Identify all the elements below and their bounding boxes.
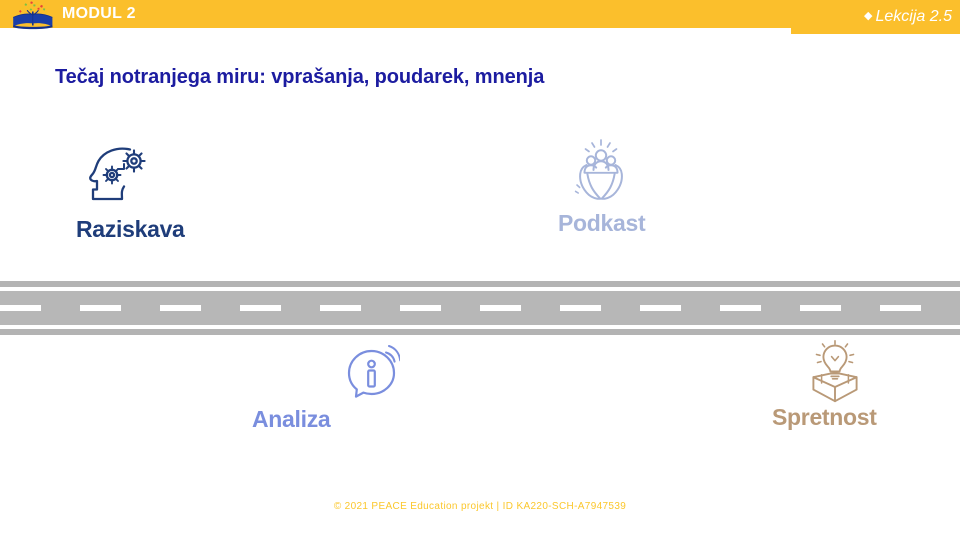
road-edge-bottom [0,329,960,335]
page-title: Tečaj notranjega miru: vprašanja, poudar… [55,66,544,89]
lesson-label-text: Lekcija 2.5 [876,8,953,25]
diamond-bullet-icon: ◆ [864,10,872,22]
peace-education-book-logo [10,1,56,30]
module-label: MODUL 2 [62,3,136,25]
journey-item-raziskava[interactable]: Raziskava [84,142,264,252]
info-speech-bubble-signal-icon [330,342,400,409]
journey-item-analiza[interactable]: Analiza [330,342,510,452]
road-divider-graphic [0,281,960,335]
journey-item-label-podkast: Podkast [558,210,738,237]
journey-item-label-spretnost: Spretnost [772,404,952,431]
head-with-gears-icon [84,142,158,209]
slide-canvas: MODUL 2 ◆Lekcija 2.5 Tečaj notranjega mi… [0,0,960,540]
hands-holding-people-icon [564,138,638,207]
journey-item-spretnost[interactable]: Spretnost [800,340,960,450]
road-edge-top [0,281,960,287]
journey-item-podkast[interactable]: Podkast [564,138,744,248]
lesson-label: ◆Lekcija 2.5 [864,5,952,28]
road-center-dashes [0,305,960,311]
footer-copyright: © 2021 PEACE Education projekt | ID KA22… [0,501,960,512]
journey-item-label-analiza: Analiza [252,406,432,433]
journey-item-label-raziskava: Raziskava [76,216,256,243]
lightbulb-in-open-box-icon [800,340,870,409]
